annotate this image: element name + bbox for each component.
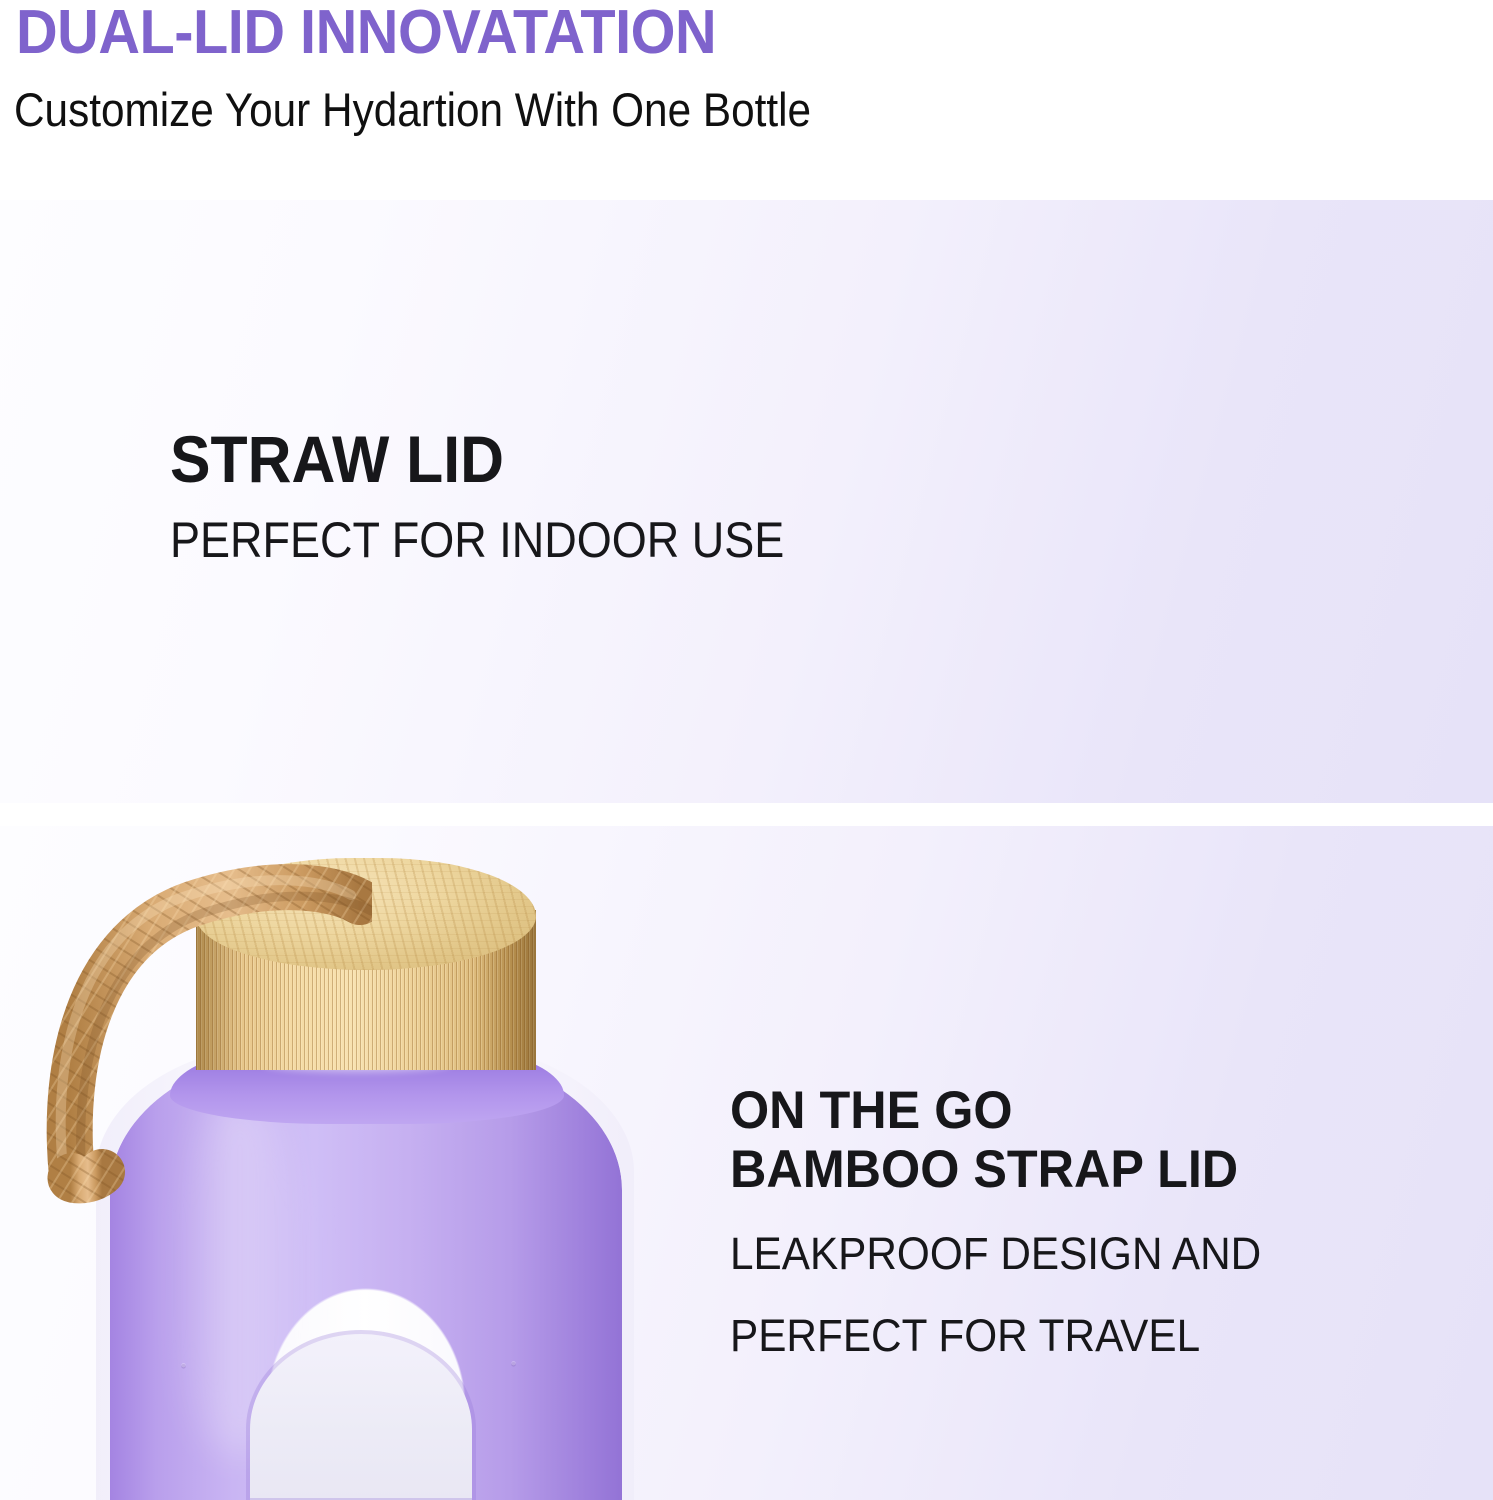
header-banner: DUAL-LID INNOVATATION Customize Your Hyd… (0, 0, 1493, 200)
page-subtitle: Customize Your Hydartion With One Bottle (14, 82, 811, 138)
straw-lid-subheading: PERFECT FOR INDOOR USE (170, 510, 784, 570)
bamboo-strap-heading-line-2: BAMBOO STRAP LID (730, 1140, 1267, 1199)
straw-lid-text-block: STRAW LID PERFECT FOR INDOOR USE (170, 422, 852, 570)
bamboo-strap-subheading-line-2: PERFECT FOR TRAVEL (730, 1309, 1261, 1363)
bamboo-strap-lid-panel: ON THE GO BAMBOO STRAP LID LEAKPROOF DES… (0, 826, 1493, 1500)
bottle-bamboo-strap-lid-image: • • (0, 826, 700, 1500)
page-title: DUAL-LID INNOVATATION (16, 0, 716, 68)
product-feature-sheet: DUAL-LID INNOVATATION Customize Your Hyd… (0, 0, 1493, 1500)
panel-divider (0, 803, 1493, 826)
bottle-straw-lid-image (770, 200, 1390, 803)
bamboo-strap-heading-line-1: ON THE GO (730, 1081, 1267, 1140)
straw-lid-heading: STRAW LID (170, 422, 798, 496)
braided-rope-strap (42, 846, 372, 1206)
bamboo-strap-subheading-line-1: LEAKPROOF DESIGN AND (730, 1227, 1261, 1281)
straw-lid-panel: STRAW LID PERFECT FOR INDOOR USE (0, 200, 1493, 803)
sleeve-embossed-logo-left: • (180, 1356, 187, 1378)
sleeve-embossed-logo-right: • (510, 1354, 517, 1376)
bamboo-strap-text-block: ON THE GO BAMBOO STRAP LID LEAKPROOF DES… (730, 1081, 1295, 1363)
